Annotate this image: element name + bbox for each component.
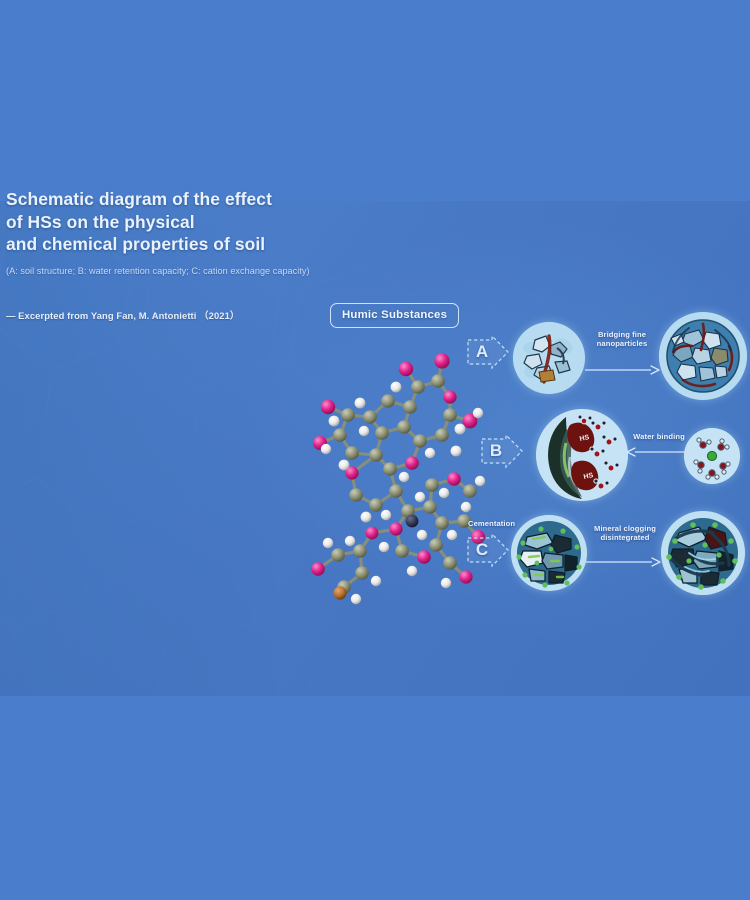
figure-source-attribution: — Excerpted from Yang Fan, M. Antonietti…	[6, 308, 336, 322]
arrow-right-a	[585, 364, 661, 376]
soil-aggregate-circle-a	[659, 312, 747, 400]
title-line-2: of HSs on the physical	[6, 211, 336, 234]
top-band	[0, 0, 750, 201]
figure-subtitle: (A: soil structure; B: water retention c…	[6, 265, 336, 277]
step-label-b: Water binding	[628, 432, 690, 441]
title-line-1: Schematic diagram of the effect	[6, 188, 336, 211]
disintegrated-mineral-circle-c	[661, 511, 745, 595]
panel-marker-b: B	[480, 433, 524, 469]
title-line-3: and chemical properties of soil	[6, 233, 336, 256]
step-label-a: Bridging fine nanoparticles	[586, 330, 658, 349]
arrow-right-c	[586, 556, 662, 568]
panel-marker-c: C	[466, 532, 510, 568]
cemented-mineral-circle-c	[511, 515, 587, 591]
page-title: Schematic diagram of the effect of HSs o…	[6, 188, 336, 256]
panel-marker-a: A	[466, 334, 510, 370]
bottom-band	[0, 696, 750, 900]
step-label-c: Mineral clogging disintegrated	[588, 524, 662, 543]
figure-text-block: Schematic diagram of the effect of HSs o…	[6, 188, 336, 322]
humic-mineral-water-circle-b: HS HS	[536, 409, 628, 501]
figure-stage: Schematic diagram of the effect of HSs o…	[0, 0, 750, 900]
arrow-left-b	[627, 446, 689, 458]
cementation-label-c: Cementation	[468, 519, 515, 528]
soil-loose-particles-circle-a	[513, 322, 585, 394]
hydrated-cation-circle-b	[684, 428, 740, 484]
